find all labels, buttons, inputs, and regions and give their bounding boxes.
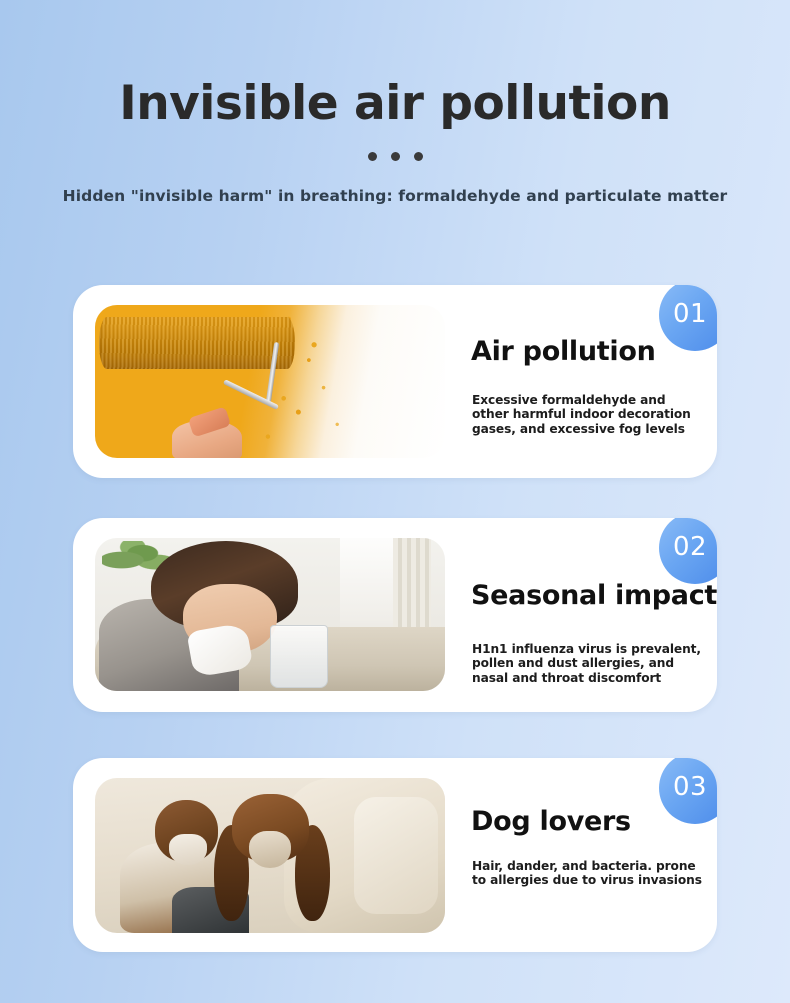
card-description: Excessive formaldehyde and other harmful… bbox=[472, 393, 704, 436]
card-description: H1n1 influenza virus is prevalent, polle… bbox=[472, 642, 704, 685]
page-subtitle: Hidden "invisible harm" in breathing: fo… bbox=[0, 161, 790, 205]
info-card[interactable]: Seasonal impact H1n1 influenza virus is … bbox=[73, 518, 717, 712]
info-card[interactable]: Air pollution Excessive formaldehyde and… bbox=[73, 285, 717, 478]
divider-dot-icon bbox=[391, 152, 400, 161]
card-image-dogs bbox=[95, 778, 445, 933]
info-card[interactable]: Dog lovers Hair, dander, and bacteria. p… bbox=[73, 758, 717, 952]
card-title: Dog lovers bbox=[471, 806, 631, 837]
page-root: Invisible air pollution Hidden "invisibl… bbox=[0, 0, 790, 1003]
page-title: Invisible air pollution bbox=[0, 0, 790, 130]
card-image-woman-sneezing bbox=[95, 538, 445, 691]
divider-dots bbox=[0, 130, 790, 161]
card-description: Hair, dander, and bacteria. prone to all… bbox=[472, 859, 704, 888]
divider-dot-icon bbox=[414, 152, 423, 161]
card-title: Air pollution bbox=[471, 336, 656, 367]
divider-dot-icon bbox=[368, 152, 377, 161]
card-title: Seasonal impact bbox=[471, 580, 717, 611]
page-header: Invisible air pollution Hidden "invisibl… bbox=[0, 0, 790, 205]
card-image-paint-roller bbox=[95, 305, 445, 458]
